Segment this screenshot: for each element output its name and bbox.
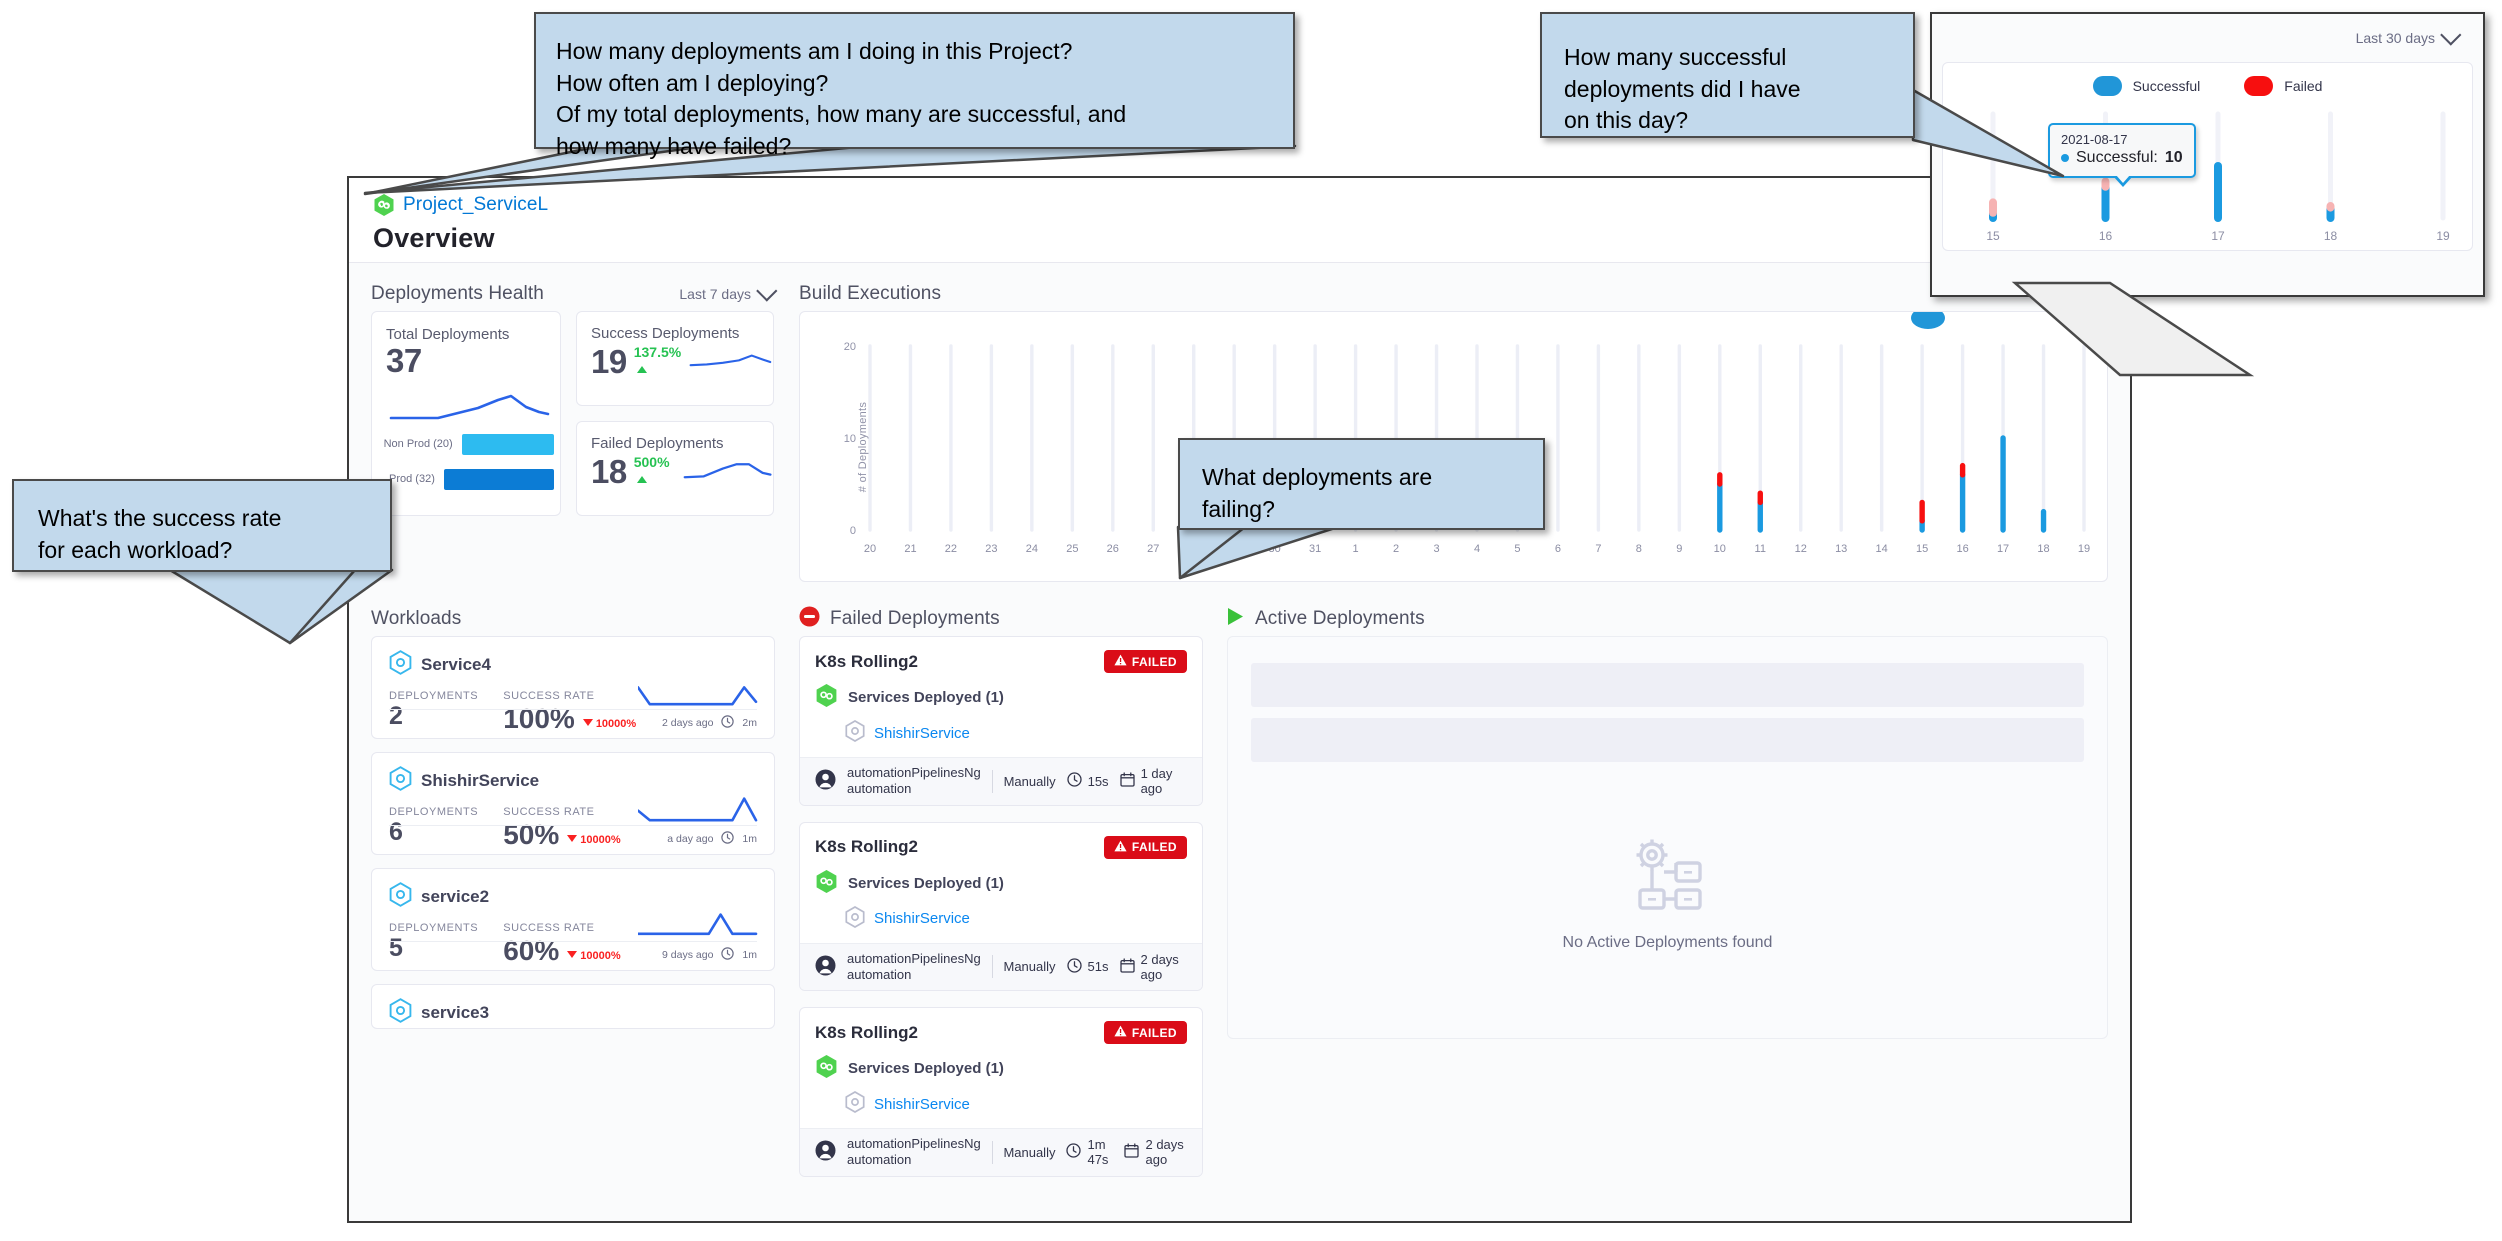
callout-text: How many successful deployments did I ha…	[1564, 42, 1891, 137]
callout-tail-2	[1913, 90, 2063, 176]
callout-text: How many deployments am I doing in this …	[556, 36, 1273, 163]
callout-deployments-health: How many deployments am I doing in this …	[534, 12, 1295, 149]
callout-failing-deployments: What deployments are failing?	[1178, 438, 1545, 530]
callout-tails	[0, 0, 2502, 1241]
callout-text: What deployments are failing?	[1202, 462, 1523, 525]
callout-successful-deployments: How many successful deployments did I ha…	[1540, 12, 1915, 138]
callout-success-rate: What's the success rate for each workloa…	[12, 479, 392, 572]
zoom-connector	[2015, 283, 2250, 375]
callout-text: What's the success rate for each workloa…	[38, 503, 370, 566]
